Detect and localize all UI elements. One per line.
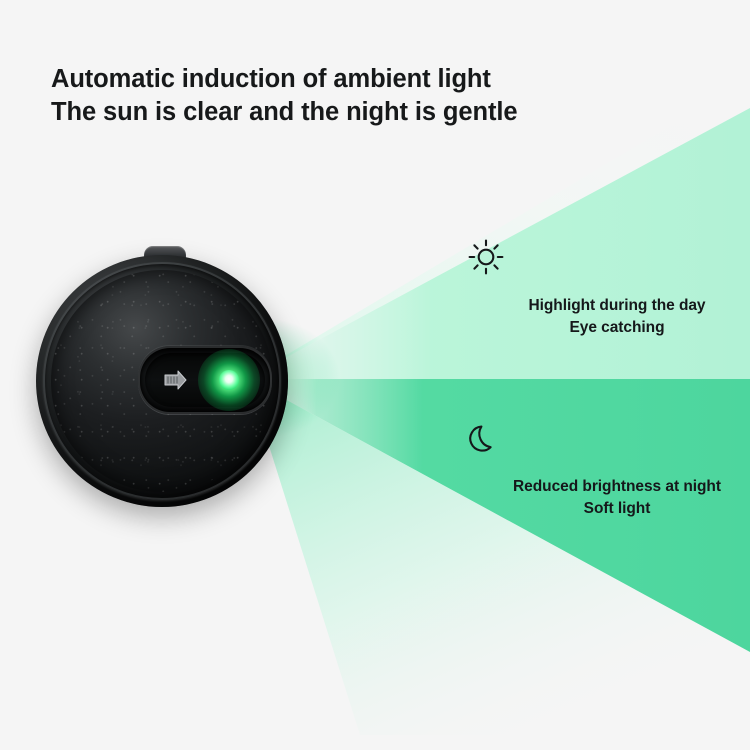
feature-day-text: Highlight during the day Eye catching — [467, 295, 750, 339]
usb-port-recess — [138, 346, 272, 414]
car-charger-device — [36, 255, 288, 507]
moon-icon — [467, 423, 750, 457]
feature-night-line-2: Soft light — [467, 498, 750, 520]
feature-block-night: Reduced brightness at night Soft light — [467, 423, 750, 520]
device-body — [36, 255, 288, 507]
product-feature-image: Automatic induction of ambient light The… — [0, 0, 750, 750]
feature-night-line-1: Reduced brightness at night — [467, 476, 750, 498]
feature-night-text: Reduced brightness at night Soft light — [467, 476, 750, 520]
green-indicator-led — [219, 370, 239, 390]
headline-line-2: The sun is clear and the night is gentle — [51, 96, 517, 129]
feature-block-day: Highlight during the day Eye catching — [467, 238, 750, 339]
headline-line-1: Automatic induction of ambient light — [51, 63, 517, 96]
headline: Automatic induction of ambient light The… — [51, 63, 517, 129]
feature-day-line-1: Highlight during the day — [467, 295, 750, 317]
usb-arrow-icon — [163, 367, 197, 393]
feature-day-line-2: Eye catching — [467, 317, 750, 339]
sun-icon — [467, 238, 750, 276]
